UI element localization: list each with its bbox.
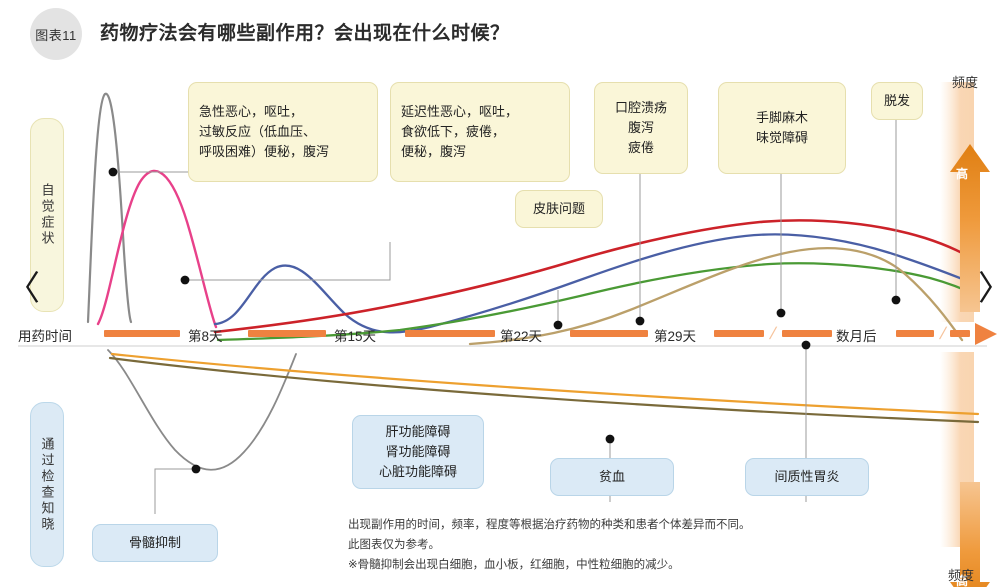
timeline-label-4: 第29天 (654, 325, 696, 345)
callout-line: 疲倦 (628, 138, 654, 158)
timeline-label-3: 第22天 (500, 325, 542, 345)
timeline-label-5: 数月后 (836, 325, 877, 345)
callout-line: 手脚麻木 (756, 108, 808, 128)
marker-delayed (181, 276, 190, 285)
callout-line: 口腔溃疡 (615, 98, 667, 118)
callout-line: 急性恶心，呕吐， (199, 102, 303, 122)
page-title: 药物疗法会有哪些副作用？会出现在什么时候？ (100, 18, 510, 45)
chevron-right-icon: 〉 (978, 272, 1005, 306)
callout-line: 贫血 (599, 467, 625, 487)
callout-bone-marrow-suppression: 骨髓抑制 (92, 524, 218, 562)
timeline-segment (570, 330, 648, 337)
timeline-segment (248, 330, 326, 337)
marker-acute (109, 168, 118, 177)
callout-line: 腹泻 (628, 118, 654, 138)
chevron-left-icon: 〈 (6, 272, 40, 306)
timeline-label-1: 第8天 (188, 325, 223, 345)
marker-numbness (777, 309, 786, 318)
footnote-line: 此图表仅为参考。 (348, 535, 808, 555)
curve-oral-ulcer (215, 220, 978, 332)
infographic-page: 图表11 药物疗法会有哪些副作用？会出现在什么时候？ (0, 0, 1005, 587)
panel-label-lab-findings: 通过检查知晓 (30, 402, 64, 567)
callout-oral-ulcer: 口腔溃疡 腹泻 疲倦 (594, 82, 688, 174)
figure-badge: 图表11 (30, 8, 82, 60)
footnote-line: ※骨髓抑制会出现白细胞，血小板，红细胞，中性粒细胞的减少。 (348, 555, 808, 575)
header: 图表11 药物疗法会有哪些副作用？会出现在什么时候？ (0, 0, 1005, 62)
timeline-label-0: 用药时间 (18, 325, 72, 345)
callout-hair-loss: 脱发 (871, 82, 923, 120)
callout-line: 食欲低下，疲倦， (401, 122, 505, 142)
curve-delayed-nausea (98, 171, 216, 327)
callout-line: 骨髓抑制 (129, 533, 181, 553)
timeline-segment (714, 330, 764, 337)
callout-line: 皮肤问题 (533, 199, 585, 219)
timeline-segment (896, 330, 934, 337)
callout-organ-dysfunction: 肝功能障碍 肾功能障碍 心脏功能障碍 (352, 415, 484, 489)
marker-marrow (192, 465, 201, 474)
callout-acute-symptoms: 急性恶心，呕吐， 过敏反应（低血压、 呼吸困难）便秘，腹泻 (188, 82, 378, 182)
leader-marrow (155, 469, 196, 514)
footnote: 出现副作用的时间，频率，程度等根据治疗药物的种类和患者个体差异而不同。 此图表仅… (348, 515, 808, 575)
callout-interstitial-gastritis: 间质性胃炎 (745, 458, 869, 496)
timeline-segment (104, 330, 180, 337)
timeline-segment (950, 330, 970, 337)
callout-line: 肾功能障碍 (385, 442, 450, 462)
callout-delayed-symptoms: 延迟性恶心，呕吐， 食欲低下，疲倦， 便秘，腹泻 (390, 82, 570, 182)
timeline-segment (782, 330, 832, 337)
callout-line: 便秘，腹泻 (401, 142, 466, 162)
callout-line: 过敏反应（低血压、 (199, 122, 316, 142)
footnote-line: 出现副作用的时间，频率，程度等根据治疗药物的种类和患者个体差异而不同。 (348, 515, 808, 535)
callout-skin-problems: 皮肤问题 (515, 190, 603, 228)
timeline-arrow-icon (975, 323, 997, 345)
frequency-label-bottom: 频度 (948, 565, 974, 584)
timeline-label-2: 第15天 (334, 325, 376, 345)
leader-delayed (185, 242, 390, 280)
callout-line: 心脏功能障碍 (379, 462, 457, 482)
callout-line: 呼吸困难）便秘，腹泻 (199, 142, 329, 162)
callout-line: 延迟性恶心，呕吐， (401, 102, 518, 122)
timeline-segment (405, 330, 495, 337)
callout-line: 肝功能障碍 (385, 422, 450, 442)
curve-anemia (112, 354, 978, 414)
marker-anemia (606, 435, 615, 444)
callout-line: 脱发 (884, 91, 910, 111)
marker-hairloss (892, 296, 901, 305)
callout-numbness: 手脚麻木 味觉障碍 (718, 82, 846, 174)
frequency-up-text: 高 (956, 165, 968, 182)
frequency-label-top: 频度 (952, 72, 978, 91)
callout-anemia: 贫血 (550, 458, 674, 496)
timeline-axis: 用药时间 第8天 第15天 第22天 第29天 / 数月后 / (0, 322, 1005, 348)
callout-line: 间质性胃炎 (774, 467, 839, 487)
callout-line: 味觉障碍 (756, 128, 808, 148)
axis-break-icon: / (763, 324, 782, 343)
